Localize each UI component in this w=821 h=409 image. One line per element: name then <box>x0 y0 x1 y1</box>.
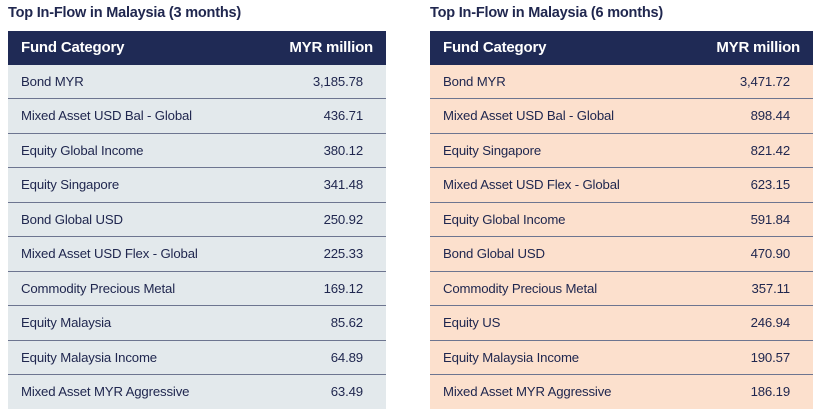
cell-myr-million: 821.42 <box>667 133 813 168</box>
cell-fund-category: Mixed Asset USD Flex - Global <box>430 168 667 203</box>
table-row: Mixed Asset MYR Aggressive 186.19 <box>430 375 813 409</box>
page-root: Top In-Flow in Malaysia (3 months) Fund … <box>0 0 821 404</box>
cell-myr-million: 246.94 <box>667 306 813 341</box>
cell-myr-million: 436.71 <box>242 99 386 134</box>
table-row: Equity Malaysia 85.62 <box>8 306 386 341</box>
cell-fund-category: Mixed Asset MYR Aggressive <box>430 375 667 409</box>
table-row: Equity US 246.94 <box>430 306 813 341</box>
page-title-6-months: Top In-Flow in Malaysia (6 months) <box>430 0 813 21</box>
column-header-myr-million: MYR million <box>667 31 813 65</box>
cell-fund-category: Equity Malaysia <box>8 306 242 341</box>
table-row: Bond MYR 3,185.78 <box>8 65 386 99</box>
cell-fund-category: Bond MYR <box>430 65 667 99</box>
cell-myr-million: 898.44 <box>667 99 813 134</box>
table-row: Mixed Asset USD Flex - Global 623.15 <box>430 168 813 203</box>
cell-fund-category: Bond Global USD <box>8 202 242 237</box>
table-row: Equity Malaysia Income 190.57 <box>430 340 813 375</box>
cell-fund-category: Equity Global Income <box>430 202 667 237</box>
table-row: Equity Malaysia Income 64.89 <box>8 340 386 375</box>
column-header-fund-category: Fund Category <box>8 31 242 65</box>
cell-fund-category: Equity Malaysia Income <box>430 340 667 375</box>
inflow-table-6-months: Fund Category MYR million Bond MYR 3,471… <box>430 31 813 409</box>
column-header-fund-category: Fund Category <box>430 31 667 65</box>
table-row: Commodity Precious Metal 169.12 <box>8 271 386 306</box>
cell-fund-category: Equity Singapore <box>8 168 242 203</box>
cell-fund-category: Mixed Asset USD Flex - Global <box>8 237 242 272</box>
table-body-3-months: Bond MYR 3,185.78 Mixed Asset USD Bal - … <box>8 65 386 409</box>
table-header-3-months: Fund Category MYR million <box>8 31 386 65</box>
cell-fund-category: Commodity Precious Metal <box>8 271 242 306</box>
table-header-row: Fund Category MYR million <box>430 31 813 65</box>
table-row: Bond Global USD 470.90 <box>430 237 813 272</box>
table-row: Equity Singapore 341.48 <box>8 168 386 203</box>
page-title-3-months: Top In-Flow in Malaysia (3 months) <box>8 0 386 21</box>
panel-inflow-3-months: Top In-Flow in Malaysia (3 months) Fund … <box>8 0 386 409</box>
cell-fund-category: Equity Malaysia Income <box>8 340 242 375</box>
cell-myr-million: 63.49 <box>242 375 386 409</box>
cell-fund-category: Bond MYR <box>8 65 242 99</box>
table-header-6-months: Fund Category MYR million <box>430 31 813 65</box>
cell-myr-million: 186.19 <box>667 375 813 409</box>
table-row: Mixed Asset USD Bal - Global 898.44 <box>430 99 813 134</box>
cell-myr-million: 357.11 <box>667 271 813 306</box>
cell-myr-million: 85.62 <box>242 306 386 341</box>
cell-fund-category: Mixed Asset USD Bal - Global <box>430 99 667 134</box>
table-row: Mixed Asset USD Flex - Global 225.33 <box>8 237 386 272</box>
panel-inflow-6-months: Top In-Flow in Malaysia (6 months) Fund … <box>430 0 813 409</box>
cell-myr-million: 225.33 <box>242 237 386 272</box>
cell-fund-category: Bond Global USD <box>430 237 667 272</box>
table-row: Equity Global Income 380.12 <box>8 133 386 168</box>
table-row: Mixed Asset MYR Aggressive 63.49 <box>8 375 386 409</box>
cell-fund-category: Equity Global Income <box>8 133 242 168</box>
cell-myr-million: 591.84 <box>667 202 813 237</box>
table-body-6-months: Bond MYR 3,471.72 Mixed Asset USD Bal - … <box>430 65 813 409</box>
cell-myr-million: 623.15 <box>667 168 813 203</box>
cell-myr-million: 470.90 <box>667 237 813 272</box>
cell-myr-million: 64.89 <box>242 340 386 375</box>
table-row: Bond Global USD 250.92 <box>8 202 386 237</box>
cell-fund-category: Mixed Asset MYR Aggressive <box>8 375 242 409</box>
table-row: Mixed Asset USD Bal - Global 436.71 <box>8 99 386 134</box>
cell-fund-category: Equity US <box>430 306 667 341</box>
inflow-table-3-months: Fund Category MYR million Bond MYR 3,185… <box>8 31 386 409</box>
cell-fund-category: Equity Singapore <box>430 133 667 168</box>
table-row: Bond MYR 3,471.72 <box>430 65 813 99</box>
table-row: Equity Singapore 821.42 <box>430 133 813 168</box>
cell-fund-category: Mixed Asset USD Bal - Global <box>8 99 242 134</box>
cell-myr-million: 3,185.78 <box>242 65 386 99</box>
table-row: Equity Global Income 591.84 <box>430 202 813 237</box>
cell-fund-category: Commodity Precious Metal <box>430 271 667 306</box>
column-header-myr-million: MYR million <box>242 31 386 65</box>
table-header-row: Fund Category MYR million <box>8 31 386 65</box>
cell-myr-million: 380.12 <box>242 133 386 168</box>
cell-myr-million: 190.57 <box>667 340 813 375</box>
cell-myr-million: 3,471.72 <box>667 65 813 99</box>
cell-myr-million: 341.48 <box>242 168 386 203</box>
cell-myr-million: 169.12 <box>242 271 386 306</box>
cell-myr-million: 250.92 <box>242 202 386 237</box>
table-row: Commodity Precious Metal 357.11 <box>430 271 813 306</box>
